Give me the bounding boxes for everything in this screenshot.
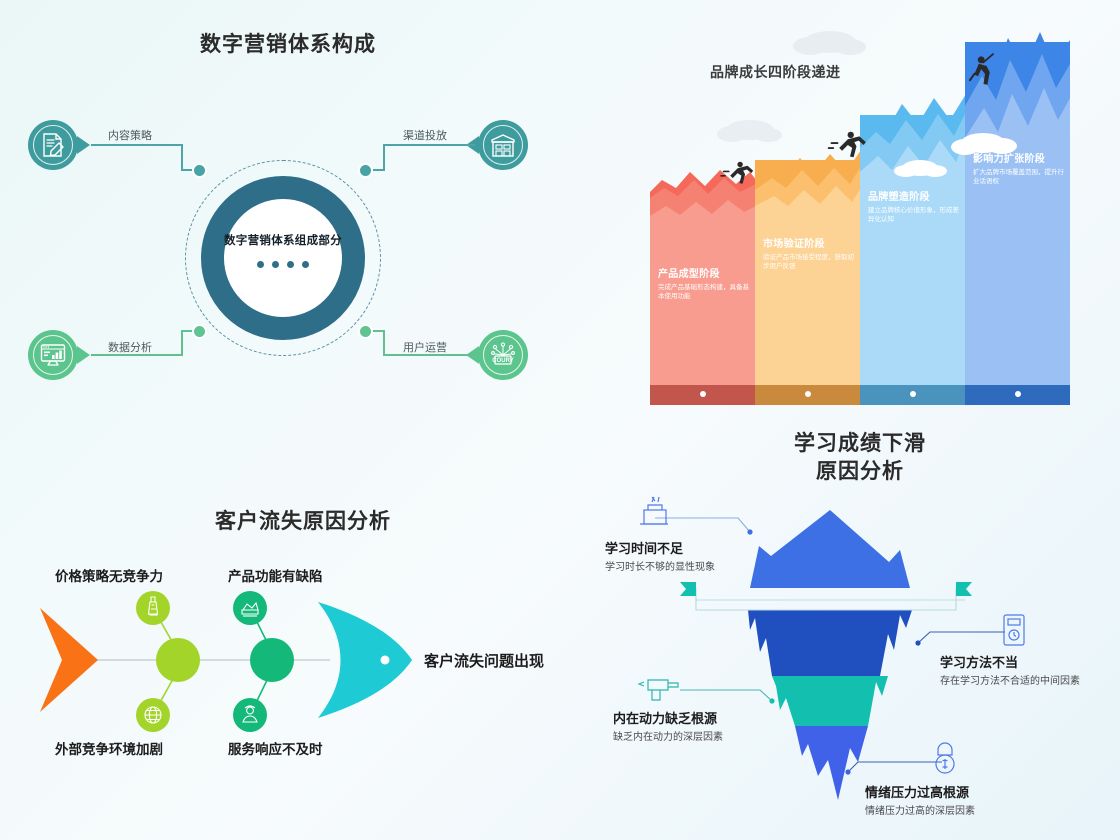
cloud-icon — [793, 31, 866, 55]
hub-center-dots — [201, 255, 365, 273]
iceberg-band-teal — [772, 676, 888, 726]
stage-marker-1 — [700, 391, 706, 397]
branch-node-content[interactable] — [28, 120, 78, 170]
fishbone-tail — [40, 608, 98, 712]
connector-channel-h — [383, 144, 475, 146]
iceberg-connector-dot-1 — [747, 529, 752, 534]
storefront-icon — [489, 131, 517, 159]
connector-dot-user — [358, 324, 373, 339]
iceberg-connector-1 — [655, 518, 750, 532]
fishbone-head — [318, 602, 412, 718]
node-tail — [77, 136, 90, 154]
mountain-chart: 产品成型阶段 完成产品基础形态构建，具备基本使用功能 市场验证阶段 验证产品市场… — [650, 20, 1070, 405]
connector-dot-content — [192, 163, 207, 178]
stage-marker-4 — [1015, 391, 1021, 397]
branch-node-data[interactable] — [28, 330, 78, 380]
cause-bubble-product[interactable] — [233, 591, 267, 625]
digital-marketing-circle-panel: 数字营销体系构成 数字营销体系组成部分 内容策略 — [0, 0, 560, 420]
stage-label-1: 产品成型阶段 完成产品基础形态构建，具备基本使用功能 — [658, 265, 753, 302]
stage-column-2 — [755, 150, 861, 405]
iceberg-surface-peak — [750, 510, 910, 588]
cause-bubble-service[interactable] — [233, 698, 267, 732]
cause-label-product: 产品功能有缺陷 — [228, 565, 323, 585]
connector-user-v — [383, 330, 385, 356]
iceberg-ribbon-left — [680, 582, 696, 596]
cause-bubble-price[interactable] — [136, 591, 170, 625]
connector-dot-data — [192, 324, 207, 339]
iceberg-item-motivation: 内在动力缺乏根源 缺乏内在动力的深层因素 — [613, 708, 783, 746]
stage-column-4 — [965, 32, 1070, 405]
hub-center-label: 数字营销体系组成部分 — [201, 232, 365, 248]
mountain-svg — [650, 20, 1070, 405]
stage-label-2: 市场验证阶段 验证产品市场接受程度，获取初步用户反馈 — [763, 235, 858, 272]
cause-label-service: 服务响应不及时 — [228, 738, 323, 758]
books-stack-icon — [640, 497, 668, 524]
iceberg-item-method: 学习方法不当 存在学习方法不合适的中间因素 — [940, 652, 1100, 690]
fishbone-joint-2[interactable] — [250, 638, 294, 682]
document-pencil-icon — [39, 131, 67, 159]
fishbone-svg — [0, 430, 600, 840]
fishbone-head-eye — [381, 656, 390, 665]
iceberg-band-navy — [748, 610, 912, 676]
cloud-icon — [717, 120, 782, 142]
stage-label-3: 品牌塑造阶段 建立品牌核心价值形象，形成差异化认知 — [868, 188, 963, 225]
customer-churn-fishbone-panel: 客户流失原因分析 — [0, 430, 600, 840]
cause-label-price: 价格策略无竞争力 — [55, 565, 163, 585]
connector-content-h — [91, 144, 183, 146]
branch-label-content: 内容策略 — [108, 127, 152, 143]
iceberg-svg — [600, 410, 1120, 840]
fishbone-joint-1[interactable] — [156, 638, 200, 682]
stage-marker-2 — [805, 391, 811, 397]
branch-label-channel: 渠道投放 — [403, 127, 447, 143]
network-board-icon: COURY — [489, 341, 517, 369]
iceberg-item-emotion: 情绪压力过高根源 情绪压力过高的深层因素 — [865, 782, 1040, 820]
iceberg-connector-4 — [848, 762, 942, 772]
device-clock-icon — [1004, 615, 1024, 645]
iceberg-ribbon-right — [956, 582, 972, 596]
circle-panel-title: 数字营销体系构成 — [200, 28, 376, 58]
node-tail — [77, 346, 90, 364]
iceberg-connector-dot-2 — [915, 640, 920, 645]
branch-label-user: 用户运营 — [403, 339, 447, 355]
connector-dot-channel — [358, 163, 373, 178]
brand-growth-mountain-panel: 品牌成长四阶段递进 — [600, 0, 1120, 420]
drill-icon — [639, 680, 678, 700]
monitor-chart-icon — [39, 341, 67, 369]
connector-data-v — [181, 330, 183, 356]
branch-node-channel[interactable] — [478, 120, 528, 170]
iceberg-connector-2 — [918, 632, 1005, 643]
iceberg-connector-3 — [680, 690, 772, 701]
iceberg-connector-dot-3 — [769, 698, 774, 703]
network-board-icon-text: COURY — [492, 358, 513, 364]
infographic-canvas: 数字营销体系构成 数字营销体系组成部分 内容策略 — [0, 0, 1120, 840]
fishbone-result-label: 客户流失问题出现 — [424, 650, 544, 671]
connector-content-v — [181, 144, 183, 171]
study-decline-iceberg-panel: 学习成绩下滑 原因分析 — [600, 410, 1120, 840]
stage-column-3 — [860, 94, 966, 405]
iceberg-bracket — [688, 588, 964, 610]
connector-channel-v — [383, 144, 385, 171]
branch-node-user[interactable]: COURY — [478, 330, 528, 380]
cause-label-competition: 外部竞争环境加剧 — [55, 738, 163, 758]
lock-coin-icon — [936, 743, 954, 773]
stage-label-4: 影响力扩张阶段 扩大品牌市场覆盖范围，提升行业话语权 — [973, 150, 1068, 187]
branch-label-data: 数据分析 — [108, 339, 152, 355]
stage-marker-3 — [910, 391, 916, 397]
iceberg-item-time: 学习时间不足 学习时长不够的显性现象 — [605, 538, 765, 576]
iceberg-connector-dot-4 — [845, 769, 850, 774]
